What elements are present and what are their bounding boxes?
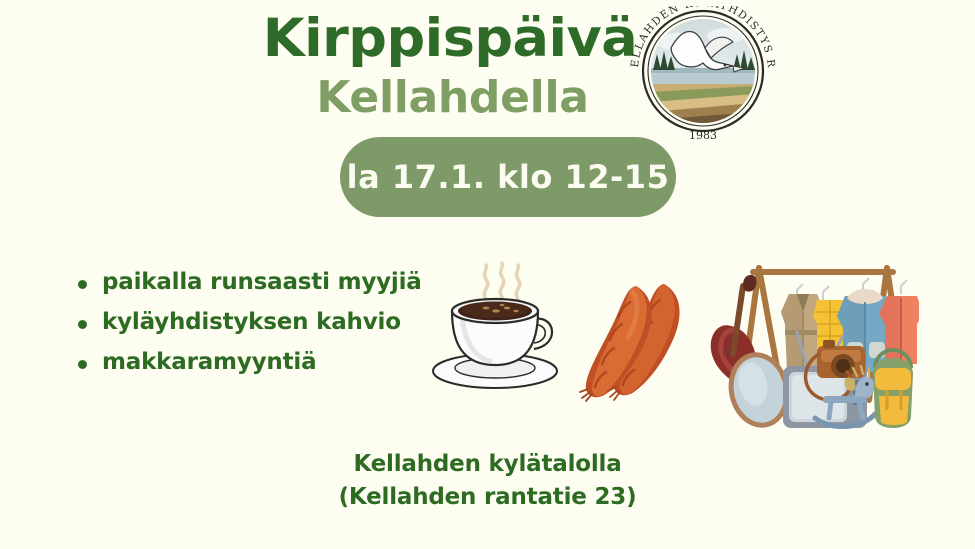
feature-list: paikalla runsaasti myyjiä kyläyhdistykse…: [78, 268, 478, 387]
sausages-illustration: [578, 272, 703, 402]
poster-canvas: Kirppispäivä Kellahdella: [0, 0, 975, 549]
list-item-label: paikalla runsaasti myyjiä: [102, 268, 422, 297]
logo-year: 1983: [689, 129, 717, 142]
bullet-dot-icon: [78, 360, 87, 369]
date-banner-text: la 17.1. klo 12-15: [347, 158, 670, 196]
date-banner: la 17.1. klo 12-15: [340, 137, 676, 217]
list-item: kyläyhdistyksen kahvio: [78, 308, 478, 337]
list-item-label: makkaramyyntiä: [102, 348, 316, 377]
coffee-cup-illustration: [430, 253, 590, 398]
venue-name: Kellahden kylätalolla: [0, 448, 975, 481]
list-item-label: kyläyhdistyksen kahvio: [102, 308, 401, 337]
flea-market-illustration: [697, 250, 919, 430]
venue-footer: Kellahden kylätalolla (Kellahden rantati…: [0, 448, 975, 515]
bullet-dot-icon: [78, 280, 87, 289]
village-association-logo: KELLAHDEN KYLÄYHDISTYS RY 1983: [621, 6, 786, 148]
list-item: makkaramyyntiä: [78, 348, 478, 377]
bullet-dot-icon: [78, 320, 87, 329]
list-item: paikalla runsaasti myyjiä: [78, 268, 478, 297]
venue-address: (Kellahden rantatie 23): [0, 481, 975, 514]
